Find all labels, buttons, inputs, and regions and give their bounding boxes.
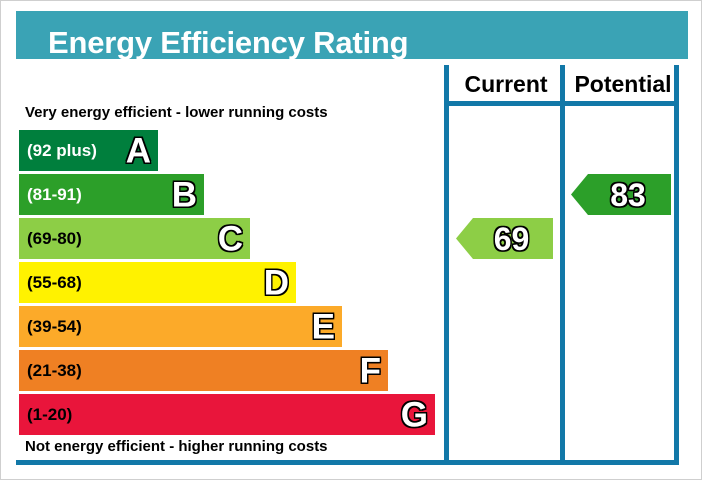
page-title: Energy Efficiency Rating [48, 25, 408, 61]
column-header-current: Current [451, 67, 561, 101]
rating-arrow-potential: 83 [571, 174, 671, 215]
band-letter-label: G [401, 397, 428, 432]
table-rule-header [444, 101, 679, 106]
rating-value-current: 69 [494, 223, 530, 255]
rating-band-f: (21-38)F [19, 350, 388, 391]
column-header-potential: Potential [567, 67, 679, 101]
band-range-label: (69-80) [27, 229, 82, 249]
rating-band-g: (1-20)G [19, 394, 435, 435]
table-rule-right [674, 65, 679, 464]
band-letter-label: B [172, 177, 197, 212]
energy-efficiency-rating-chart: Energy Efficiency Rating Current Potenti… [0, 0, 702, 480]
band-letter-label: F [360, 353, 381, 388]
band-letter-label: E [312, 309, 335, 344]
band-letter-label: D [264, 265, 289, 300]
title-banner: Energy Efficiency Rating [16, 11, 688, 59]
rating-band-d: (55-68)D [19, 262, 296, 303]
band-range-label: (55-68) [27, 273, 82, 293]
caption-not-efficient: Not energy efficient - higher running co… [25, 438, 328, 455]
rating-band-c: (69-80)C [19, 218, 250, 259]
rating-band-b: (81-91)B [19, 174, 204, 215]
band-range-label: (81-91) [27, 185, 82, 205]
band-range-label: (21-38) [27, 361, 82, 381]
band-range-label: (92 plus) [27, 141, 97, 161]
rating-value-potential: 83 [610, 179, 646, 211]
rating-band-e: (39-54)E [19, 306, 342, 347]
table-rule-middle [560, 65, 565, 464]
band-range-label: (39-54) [27, 317, 82, 337]
rating-band-a: (92 plus)A [19, 130, 158, 171]
rating-arrow-current: 69 [456, 218, 553, 259]
caption-very-efficient: Very energy efficient - lower running co… [25, 104, 328, 121]
table-rule-left [444, 65, 449, 464]
table-rule-bottom [16, 460, 679, 465]
band-range-label: (1-20) [27, 405, 72, 425]
band-letter-label: A [126, 133, 151, 168]
band-letter-label: C [218, 221, 243, 256]
